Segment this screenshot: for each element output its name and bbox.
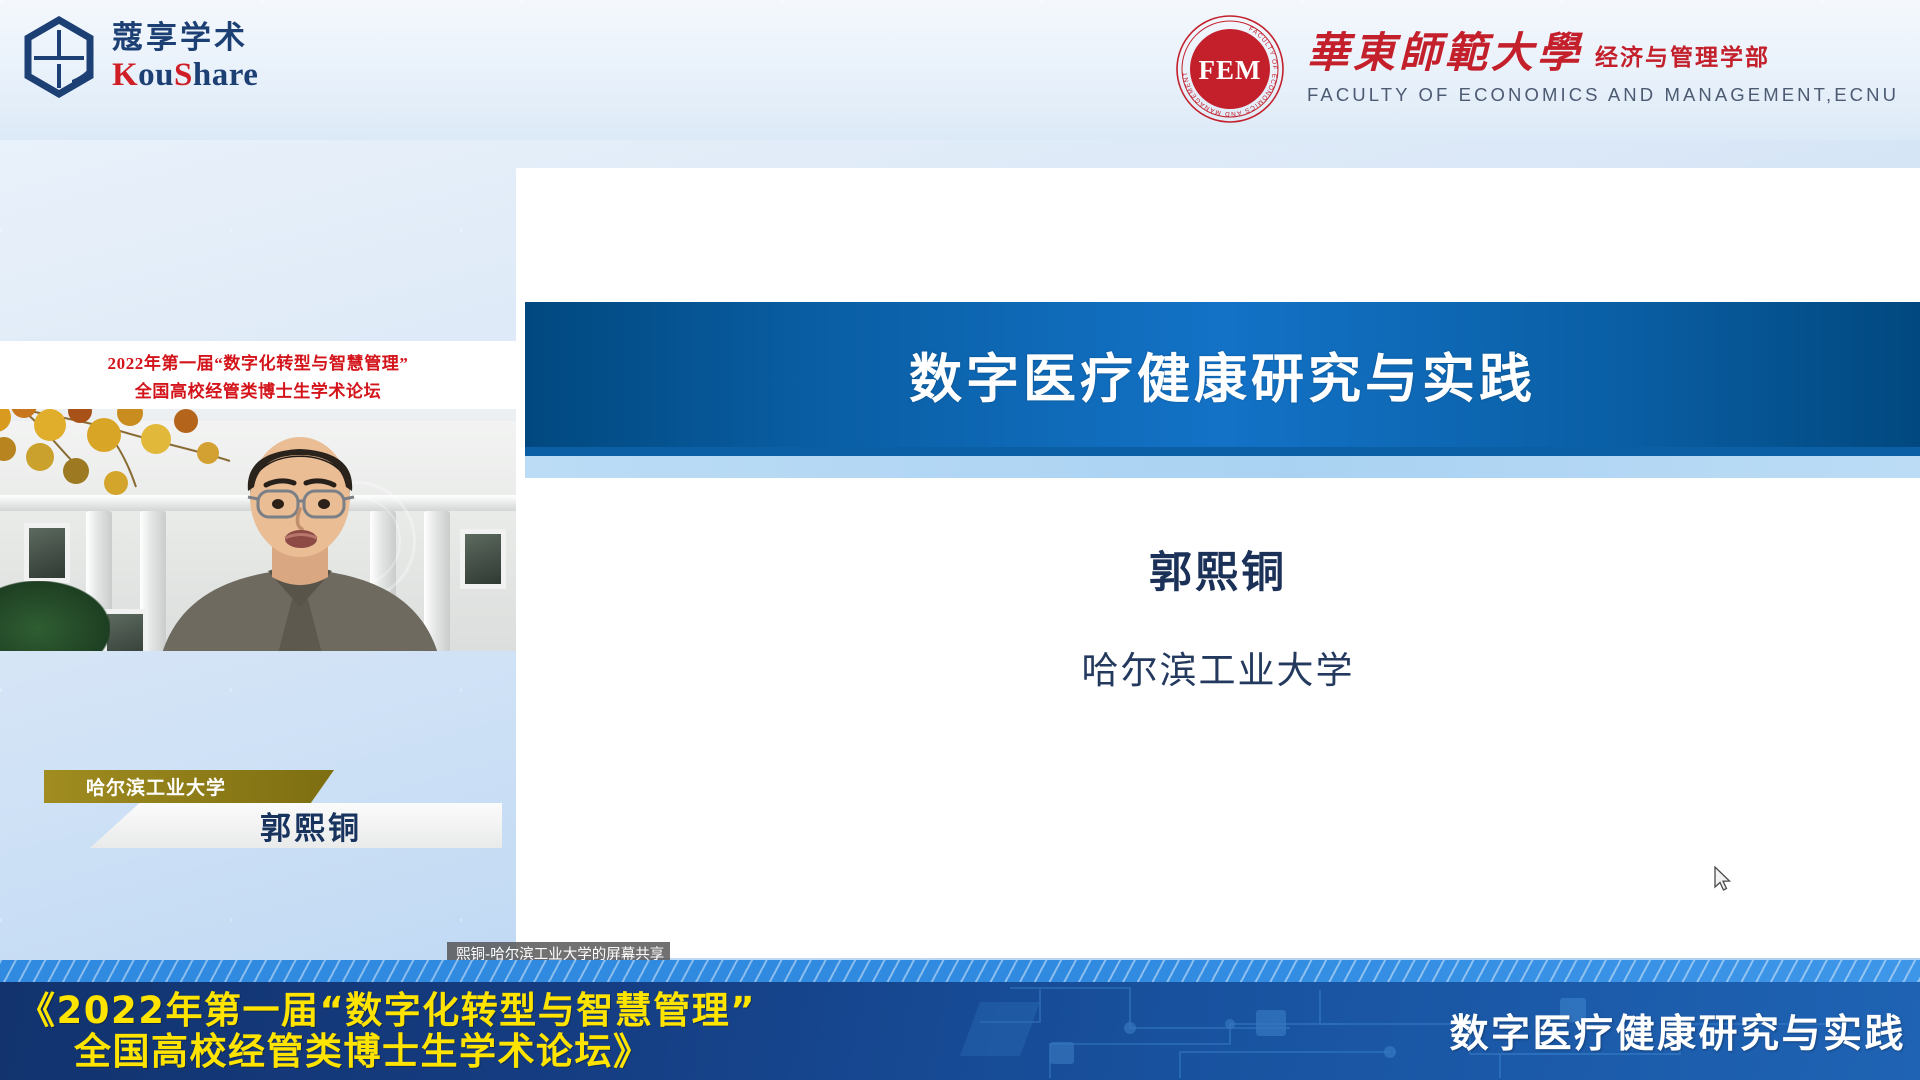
bottom-banner: 《2022年第一届“数字化转型与智慧管理” 全国高校经管类博士生学术论坛》 数字… [0,982,1920,1080]
video-overlay-line1: 2022年第一届“数字化转型与智慧管理” [108,349,409,374]
nameplate-name: 郭熙铜 [90,803,502,848]
koushare-logo[interactable]: 蔻享学术 KouShare [20,16,258,98]
slide-presenter-block: 郭熙铜 哈尔滨工业大学 [516,538,1920,694]
koushare-cn-name: 蔻享学术 [112,23,258,54]
speaker-video-frame [0,401,516,651]
forum-title-block: 《2022年第一届“数字化转型与智慧管理” 全国高校经管类博士生学术论坛》 [18,982,1018,1080]
ecnu-faculty-english: FACULTY OF ECONOMICS AND MANAGEMENT,ECNU [1307,84,1899,106]
koushare-wordmark: 蔻享学术 KouShare [112,23,258,92]
koushare-en-name: KouShare [112,59,258,92]
ecnu-name-row: 華東師範大學 经济与管理学部 [1307,33,1899,75]
svg-text:FEM: FEM [1199,55,1262,85]
screenshot-root: 蔻享学术 KouShare FEM FACULTY OF ECONOMICS A… [0,0,1920,1080]
nameplate-organization: 哈尔滨工业大学 [44,770,334,803]
mouse-pointer-arrow-icon [1713,866,1733,892]
forum-title-line2: 全国高校经管类博士生学术论坛》 [18,1031,1018,1072]
speaker-video-tile[interactable]: 2022年第一届“数字化转型与智慧管理” 全国高校经管类博士生学术论坛 [0,341,516,651]
slide-title-banner: 数字医疗健康研究与实践 [525,302,1920,447]
video-overlay-line2: 全国高校经管类博士生学术论坛 [135,377,381,402]
koushare-ou: ou [138,57,174,93]
ecnu-faculty-name: 经济与管理学部 [1595,38,1770,75]
video-background-shrub [0,581,110,651]
ecnu-wordmark: 華東師範大學 经济与管理学部 FACULTY OF ECONOMICS AND … [1307,33,1899,106]
ecnu-fem-logo[interactable]: FEM FACULTY OF ECONOMICS AND MANAGEMENT … [1175,14,1899,124]
speaker-nameplate: 哈尔滨工业大学 郭熙铜 [44,770,504,850]
bottom-strip-pattern [0,960,1920,982]
speaker-portrait [150,421,450,651]
ecnu-university-name: 華東師範大學 [1307,33,1583,75]
slide-title-underline-light [525,456,1920,478]
fem-seal-icon: FEM FACULTY OF ECONOMICS AND MANAGEMENT [1175,14,1285,124]
slide-presenter-organization: 哈尔滨工业大学 [1082,640,1355,694]
building-window [460,529,506,589]
koushare-hare: hare [193,57,259,93]
koushare-s: S [174,57,193,93]
slide-title-underline [525,447,1920,456]
bottom-accent-strip [0,960,1920,982]
koushare-k: K [112,57,138,93]
slide-presenter-name: 郭熙铜 [1149,538,1287,600]
koushare-hexagon-icon [20,16,98,98]
slide-title: 数字医疗健康研究与实践 [909,337,1536,413]
video-overlay-title: 2022年第一届“数字化转型与智慧管理” 全国高校经管类博士生学术论坛 [0,341,516,409]
forum-title-line1: 《2022年第一届“数字化转型与智慧管理” [18,990,1018,1031]
page-header: 蔻享学术 KouShare FEM FACULTY OF ECONOMICS A… [0,0,1920,140]
shared-screen-slide[interactable]: 数字医疗健康研究与实践 郭熙铜 哈尔滨工业大学 [516,168,1920,958]
talk-title-label: 数字医疗健康研究与实践 [1449,982,1906,1080]
